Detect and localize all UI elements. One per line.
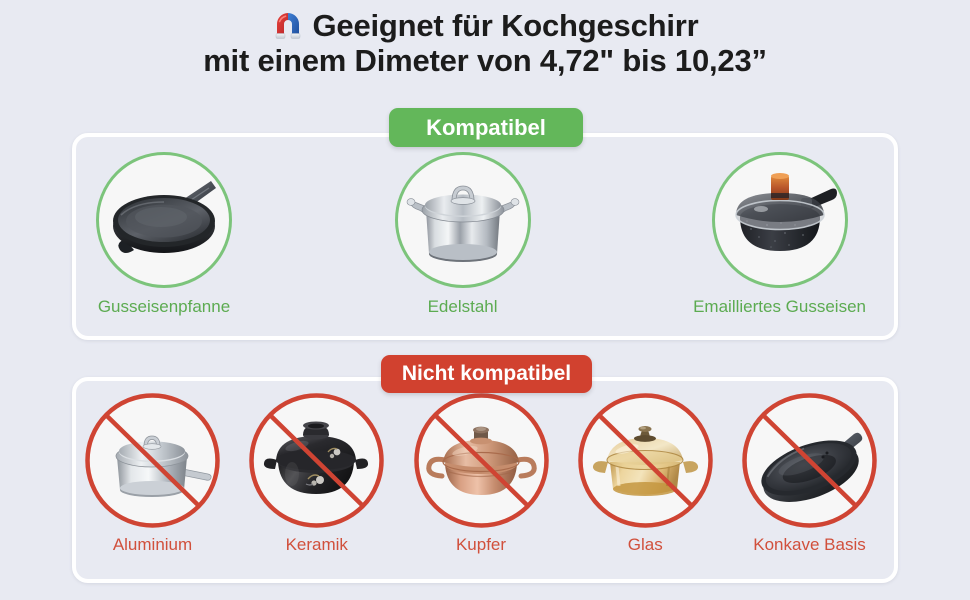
compatible-item-label: Gusseisenpfanne	[98, 297, 230, 317]
compatible-item-label: Edelstahl	[428, 297, 498, 317]
compatible-ring	[395, 152, 531, 288]
concave-base-wok-art	[743, 394, 876, 527]
magnet-icon	[271, 8, 305, 40]
compatible-badge-label: Kompatibel	[426, 115, 546, 141]
stainless-steel-pot-art	[395, 152, 531, 288]
incompatible-item-aluminium: Aluminium	[86, 394, 219, 555]
ceramic-clay-pot-icon	[250, 394, 383, 527]
concave-base-wok-icon	[743, 394, 876, 527]
incompatible-disc	[250, 394, 383, 527]
aluminium-saucepan-icon	[86, 394, 219, 527]
copper-pot-icon	[415, 394, 548, 527]
page-title: Geeignet für Kochgeschirr mit einem Dime…	[0, 8, 970, 78]
cast-iron-skillet-art	[96, 152, 232, 288]
incompatible-badge-label: Nicht kompatibel	[402, 362, 571, 386]
incompatible-item-glas: Glas	[579, 394, 712, 555]
glass-pot-art	[579, 394, 712, 527]
cast-iron-skillet-icon	[99, 155, 229, 285]
compatible-item-cast-iron: Gusseisenpfanne	[96, 152, 232, 317]
compatible-item-stainless-steel: Edelstahl	[395, 152, 531, 317]
incompatible-disc	[86, 394, 219, 527]
incompatible-badge: Nicht kompatibel	[381, 355, 592, 393]
infographic-root: Geeignet für Kochgeschirr mit einem Dime…	[0, 0, 970, 600]
incompatible-item-label: Kupfer	[456, 535, 506, 555]
stainless-steel-pot-icon	[398, 155, 528, 285]
incompatible-item-label: Aluminium	[113, 535, 192, 555]
compatible-item-label: Emailliertes Gusseisen	[693, 297, 866, 317]
incompatible-item-label: Glas	[628, 535, 663, 555]
enameled-cast-iron-art	[712, 152, 848, 288]
compatible-item-enameled-cast-iron: Emailliertes Gusseisen	[693, 152, 866, 317]
title-line-1: Geeignet für Kochgeschirr	[0, 8, 970, 44]
incompatible-item-label: Keramik	[286, 535, 348, 555]
compatible-ring	[712, 152, 848, 288]
aluminium-saucepan-art	[86, 394, 219, 527]
title-text-line-2: mit einem Dimeter von 4,72" bis 10,23”	[0, 44, 970, 79]
compatible-items-row: Gusseisenpfanne	[96, 152, 866, 327]
incompatible-disc	[743, 394, 876, 527]
ceramic-clay-pot-art	[250, 394, 383, 527]
incompatible-item-keramik: Keramik	[250, 394, 383, 555]
title-text-line-1: Geeignet für Kochgeschirr	[312, 8, 698, 43]
incompatible-item-kupfer: Kupfer	[415, 394, 548, 555]
incompatible-disc	[579, 394, 712, 527]
enameled-cast-iron-pot-icon	[715, 155, 845, 285]
compatible-badge: Kompatibel	[389, 108, 583, 147]
compatible-ring	[96, 152, 232, 288]
incompatible-disc	[415, 394, 548, 527]
incompatible-item-konkave-basis: Konkave Basis	[743, 394, 876, 555]
glass-pot-icon	[579, 394, 712, 527]
incompatible-item-label: Konkave Basis	[753, 535, 865, 555]
incompatible-items-row: Aluminium	[86, 394, 876, 572]
copper-pot-art	[415, 394, 548, 527]
